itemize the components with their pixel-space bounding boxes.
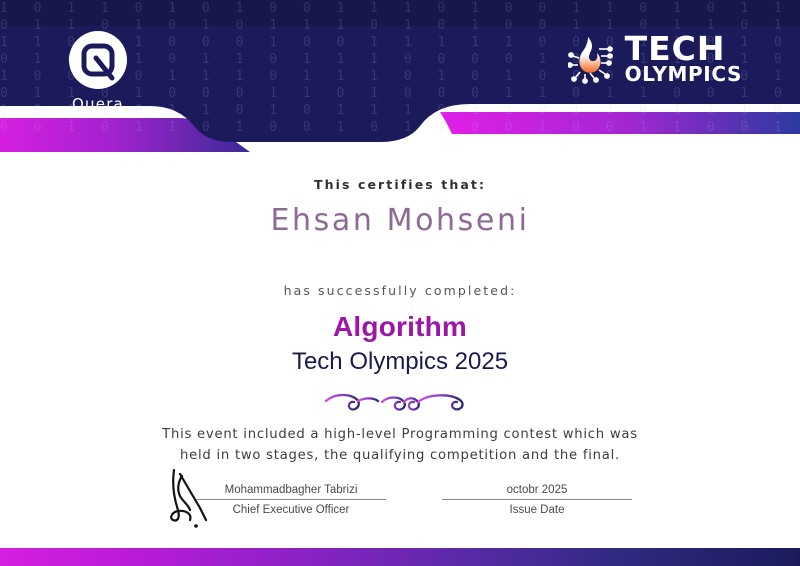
signature-block: Mohammadbagher Tabrizi Chief Executive O… [196,484,386,516]
signature-name: Mohammadbagher Tabrizi [196,484,386,500]
issue-date-value: octobr 2025 [442,484,632,500]
issue-date-label: Issue Date [442,504,632,516]
tech-olympics-line-2: OLYMPICS [625,64,742,85]
flame-circuit-icon [568,33,618,85]
description-line-1: This event included a high-level Program… [162,427,638,442]
signature-title: Chief Executive Officer [196,504,386,516]
certificate-description: This event included a high-level Program… [0,424,800,466]
certificate-body: This certifies that: Ehsan Mohseni has s… [0,152,800,546]
tech-olympics-logo: TECH OLYMPICS [568,33,742,85]
certifies-label: This certifies that: [0,177,800,192]
decorative-flourish-divider [310,388,490,418]
issue-date-block: octobr 2025 Issue Date [442,484,632,516]
certificate-header: 1 0 1 1 0 1 0 1 0 0 1 1 1 0 1 0 0 1 1 0 … [0,0,800,152]
course-title: Algorithm [0,311,800,343]
footer-gradient-bar [0,548,800,566]
event-title: Tech Olympics 2025 [0,348,800,376]
recipient-name: Ehsan Mohseni [0,203,800,238]
description-line-2: held in two stages, the qualifying compe… [180,448,620,463]
quera-wordmark: Quera [55,95,141,113]
tech-olympics-wordmark: TECH OLYMPICS [625,33,742,85]
tech-olympics-line-1: TECH [625,33,742,64]
quera-logo: Quera [55,31,141,113]
certificate: 1 0 1 1 0 1 0 1 0 0 1 1 1 0 1 0 0 1 1 0 … [0,0,800,566]
completed-label: has successfully completed: [0,283,800,298]
quera-q-logo-icon [69,31,127,89]
